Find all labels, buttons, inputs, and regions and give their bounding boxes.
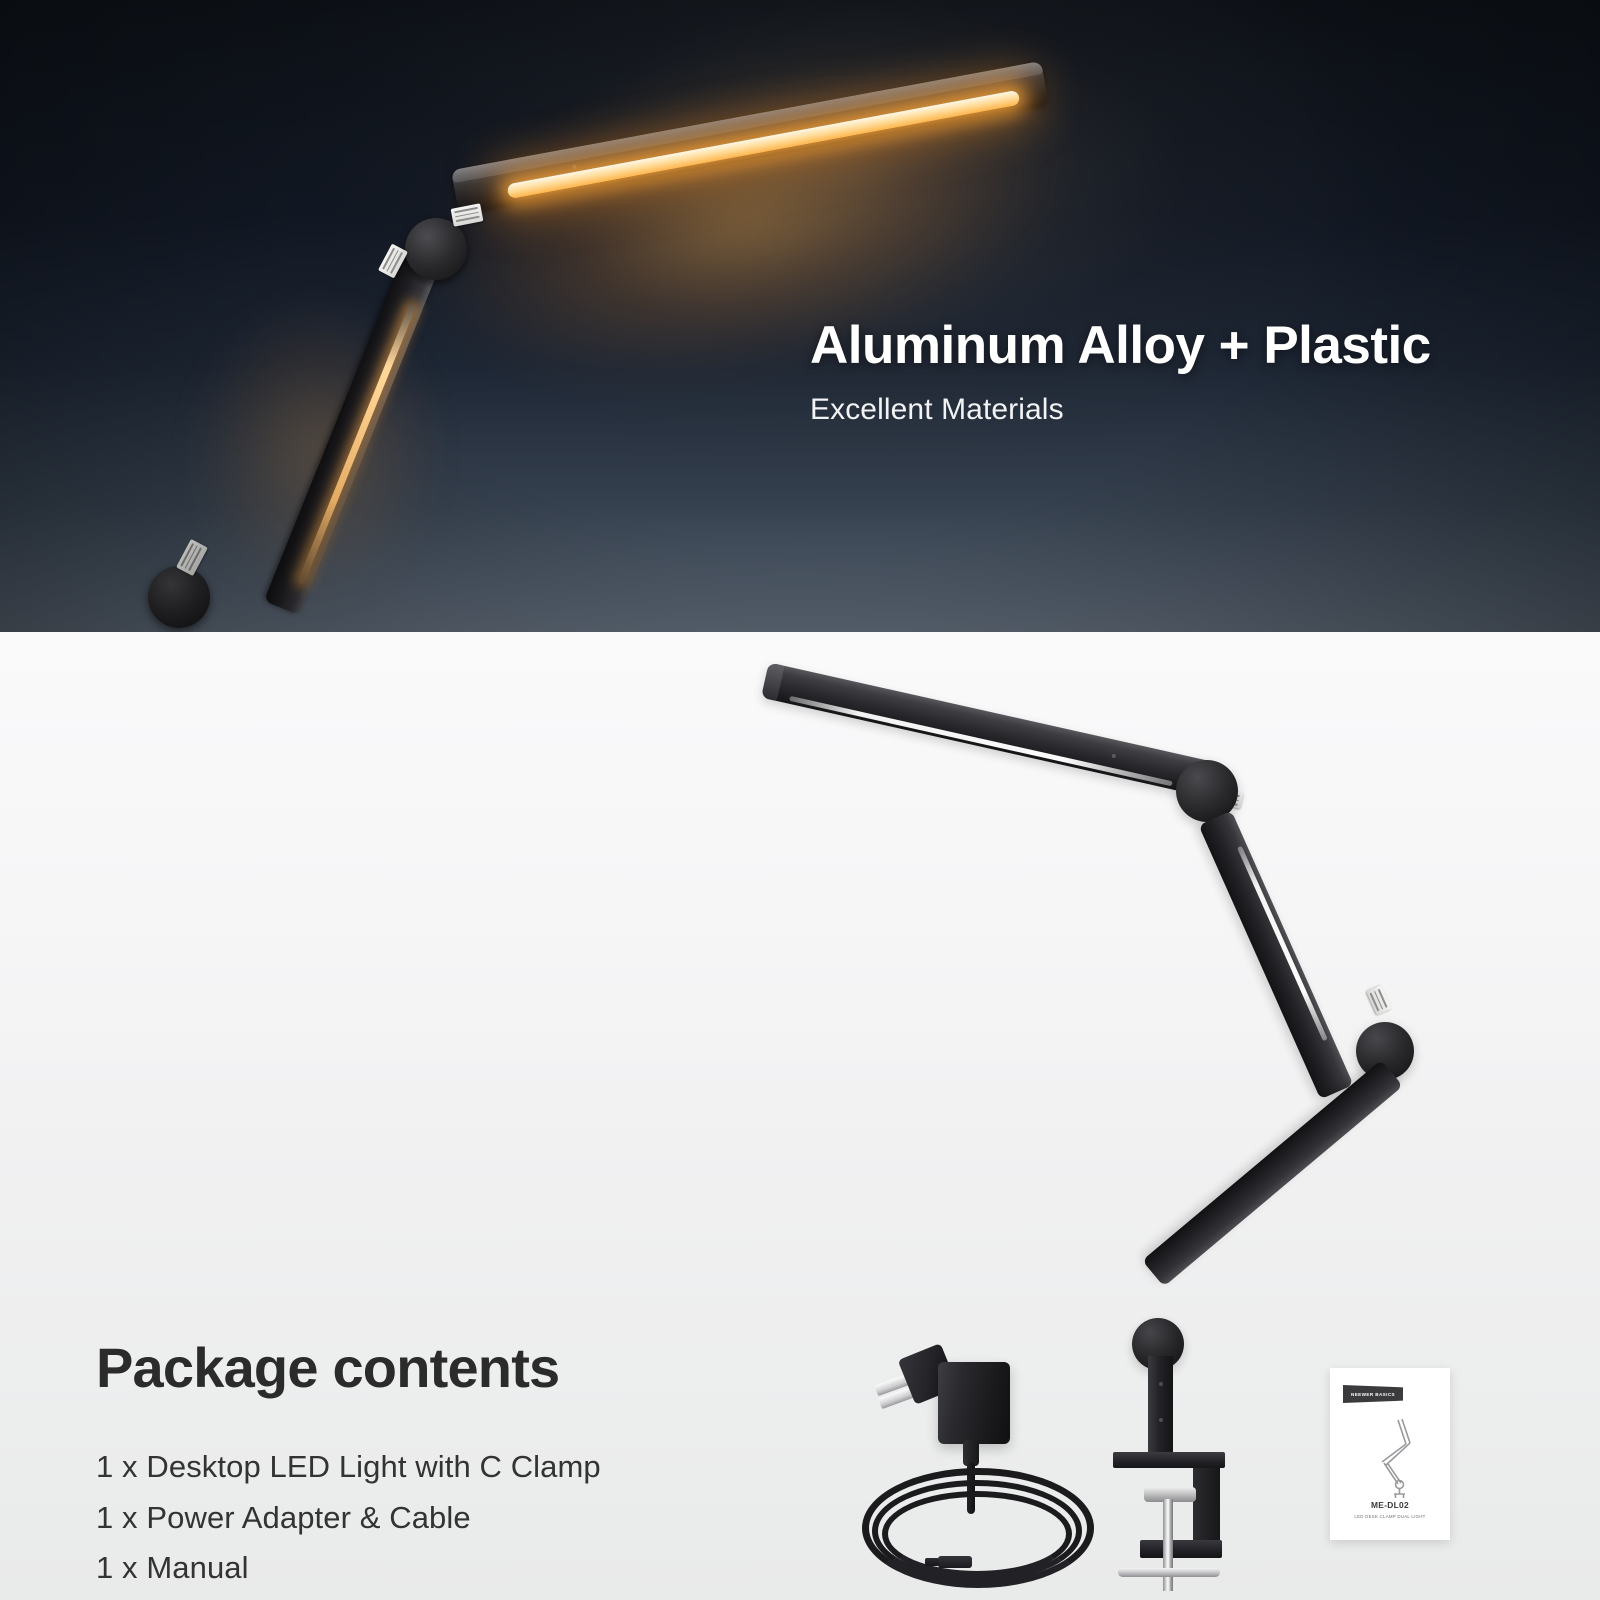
lamp-elbow-joint-top xyxy=(405,218,467,280)
package-text-block: Package contents 1 x Desktop LED Light w… xyxy=(96,1340,601,1594)
manual-tagline: LED DESK CLAMP DUAL LIGHT xyxy=(1330,1514,1450,1519)
lamp-base-joint-top xyxy=(148,566,210,628)
post-screw-dot-lower xyxy=(1159,1418,1163,1422)
materials-subtitle: Excellent Materials xyxy=(810,393,1550,427)
head-screw-dot xyxy=(1111,754,1116,759)
manual-brand-banner: NEEWER BASICS xyxy=(1343,1385,1403,1403)
lamp-lower-arm-lit xyxy=(264,258,438,615)
list-item: 1 x Power Adapter & Cable xyxy=(96,1493,601,1544)
lower-arm-led-strip xyxy=(297,304,416,585)
power-adapter-body xyxy=(938,1362,1010,1444)
package-items-list: 1 x Desktop LED Light with C Clamp 1 x P… xyxy=(96,1442,601,1594)
materials-title: Aluminum Alloy + Plastic xyxy=(810,318,1550,374)
manual-brand-text: NEEWER BASICS xyxy=(1351,1392,1395,1397)
head-top-face xyxy=(451,61,1043,183)
dc-barrel-plug xyxy=(938,1556,972,1568)
head-screw-dot xyxy=(572,164,577,169)
post-screw-dot-upper xyxy=(1159,1382,1163,1386)
list-item: 1 x Desktop LED Light with C Clamp xyxy=(96,1442,601,1493)
clamp-bottom-jaw xyxy=(1140,1540,1222,1558)
materials-panel: Aluminum Alloy + Plastic Excellent Mater… xyxy=(0,0,1600,632)
manual-lamp-sketch xyxy=(1354,1416,1428,1498)
package-title: Package contents xyxy=(96,1340,601,1396)
manual-model-number: ME-DL02 xyxy=(1330,1500,1450,1510)
head-led-strip xyxy=(506,90,1020,200)
clamp-screw-handle xyxy=(1118,1568,1220,1577)
materials-text-block: Aluminum Alloy + Plastic Excellent Mater… xyxy=(810,318,1550,427)
clamp-screw-rod xyxy=(1163,1499,1173,1591)
lamp-head-lit xyxy=(451,61,1049,214)
list-item: 1 x Manual xyxy=(96,1543,601,1594)
cable-coil-inner xyxy=(882,1491,1072,1577)
clamp-top-jaw xyxy=(1113,1452,1225,1468)
head-label-sticker xyxy=(451,203,484,226)
manual-booklet: NEEWER BASICS ME-DL02 LED DESK CLAMP DUA… xyxy=(1330,1368,1450,1540)
product-infographic: Aluminum Alloy + Plastic Excellent Mater… xyxy=(0,0,1600,1600)
clamp-post xyxy=(1148,1356,1173,1456)
